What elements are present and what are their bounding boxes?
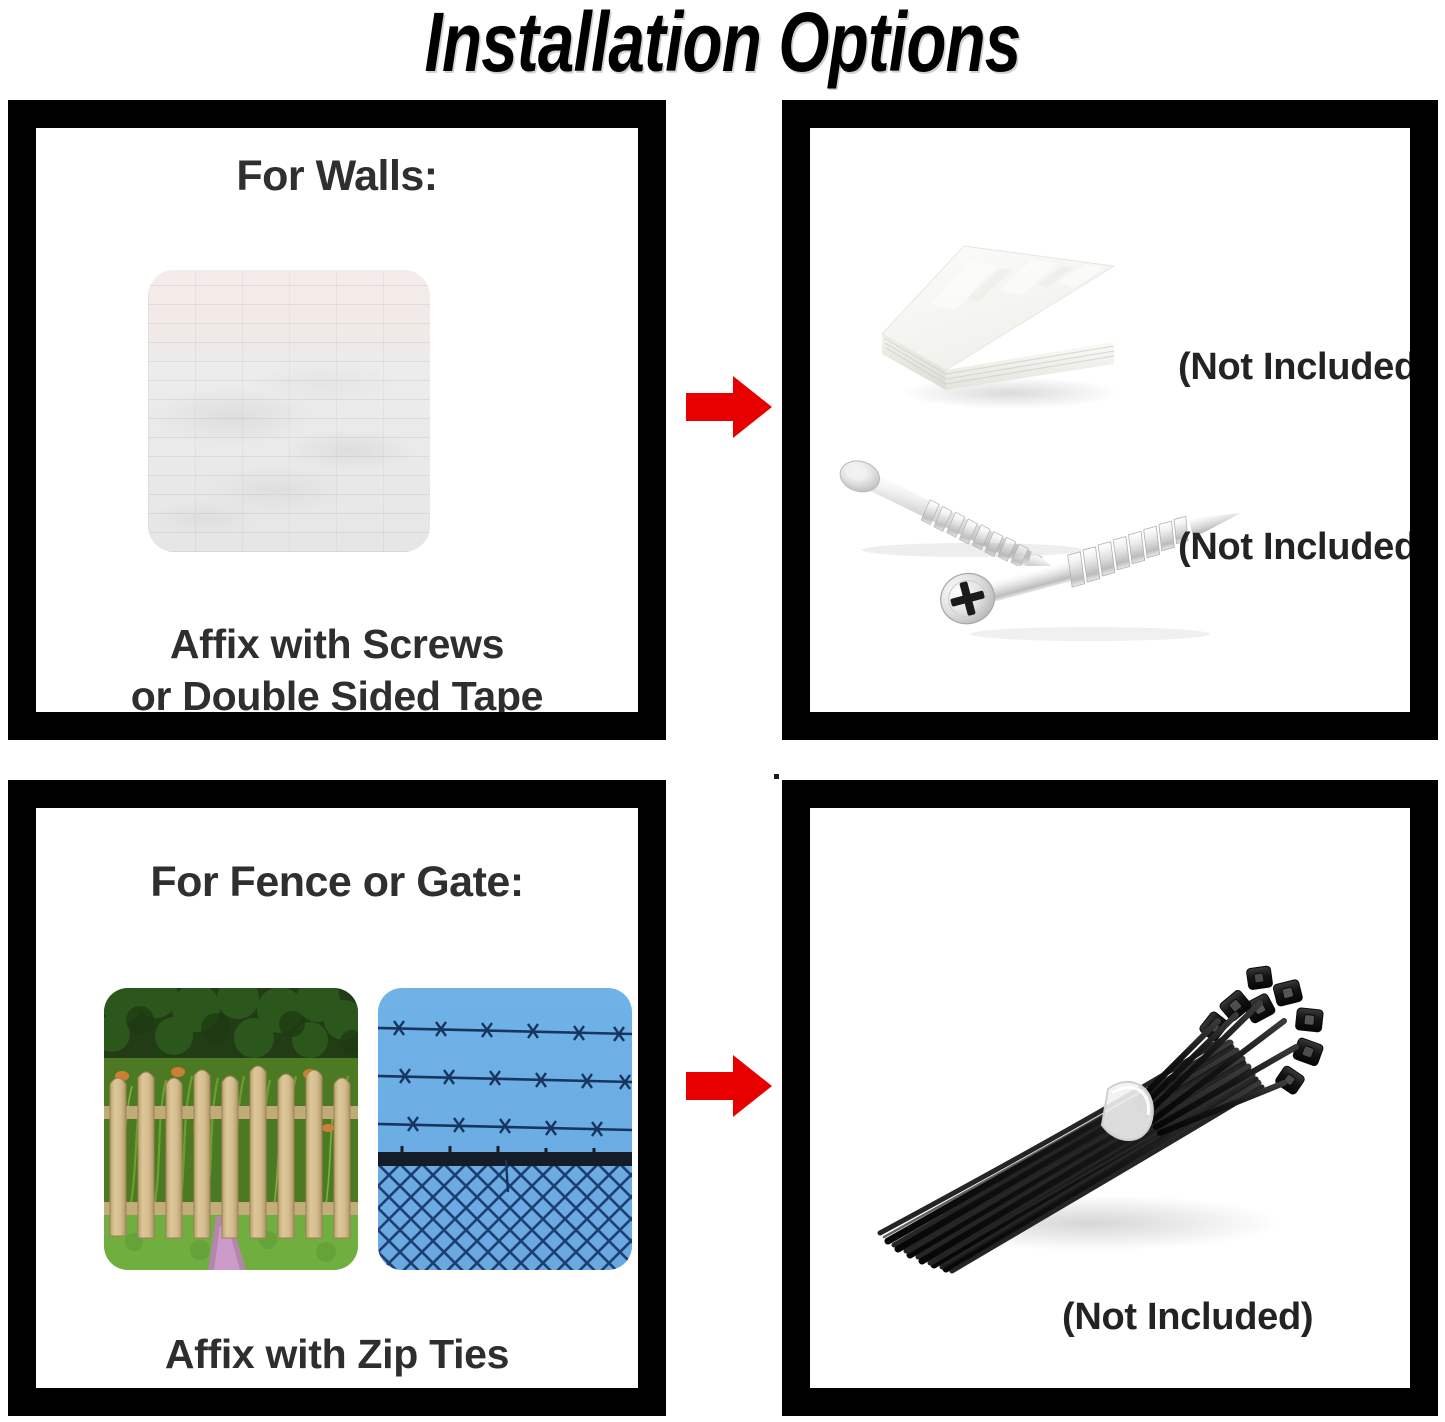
chain-link-fence-photo	[378, 988, 632, 1270]
panel-zip-ties-content: (Not Included)	[810, 808, 1410, 1388]
brick-texture-mottle	[148, 270, 430, 552]
panel-for-fence-or-gate-content: For Fence or Gate:	[36, 808, 638, 1388]
picket-fence-photo	[104, 988, 358, 1270]
page-title: Installation Options	[159, 0, 1286, 86]
panel-for-walls-content: For Walls: Affix with Screws or Double S…	[36, 128, 638, 712]
brick-wall-image	[148, 270, 430, 552]
stray-dot-artifact	[774, 774, 779, 779]
double-sided-tape-image	[860, 238, 1130, 413]
panel-for-fence-or-gate: For Fence or Gate:	[8, 780, 666, 1416]
arrow-right-icon-walls	[686, 376, 772, 438]
tape-not-included-label: (Not Included)	[1178, 346, 1410, 389]
panel-for-fence-heading: For Fence or Gate:	[36, 858, 638, 907]
arrow-right-icon-fence	[686, 1055, 772, 1117]
panel-wall-hardware-content: (Not Included)	[810, 128, 1410, 712]
panel-for-walls-heading: For Walls:	[36, 152, 638, 201]
caption-line-2: or Double Sided Tape	[36, 670, 638, 712]
caption-line-1: Affix with Screws	[36, 618, 638, 670]
panel-for-walls-caption: Affix with Screws or Double Sided Tape	[36, 618, 638, 712]
screws-not-included-label: (Not Included)	[1178, 526, 1410, 569]
panel-zip-ties: (Not Included)	[782, 780, 1438, 1416]
panel-for-walls: For Walls: Affix with Screws or Double S…	[8, 100, 666, 740]
panel-wall-hardware: (Not Included)	[782, 100, 1438, 740]
zip-tie-bundle-image	[840, 893, 1340, 1293]
panel-for-fence-caption: Affix with Zip Ties	[36, 1328, 638, 1380]
zip-ties-not-included-label: (Not Included)	[1062, 1296, 1313, 1339]
